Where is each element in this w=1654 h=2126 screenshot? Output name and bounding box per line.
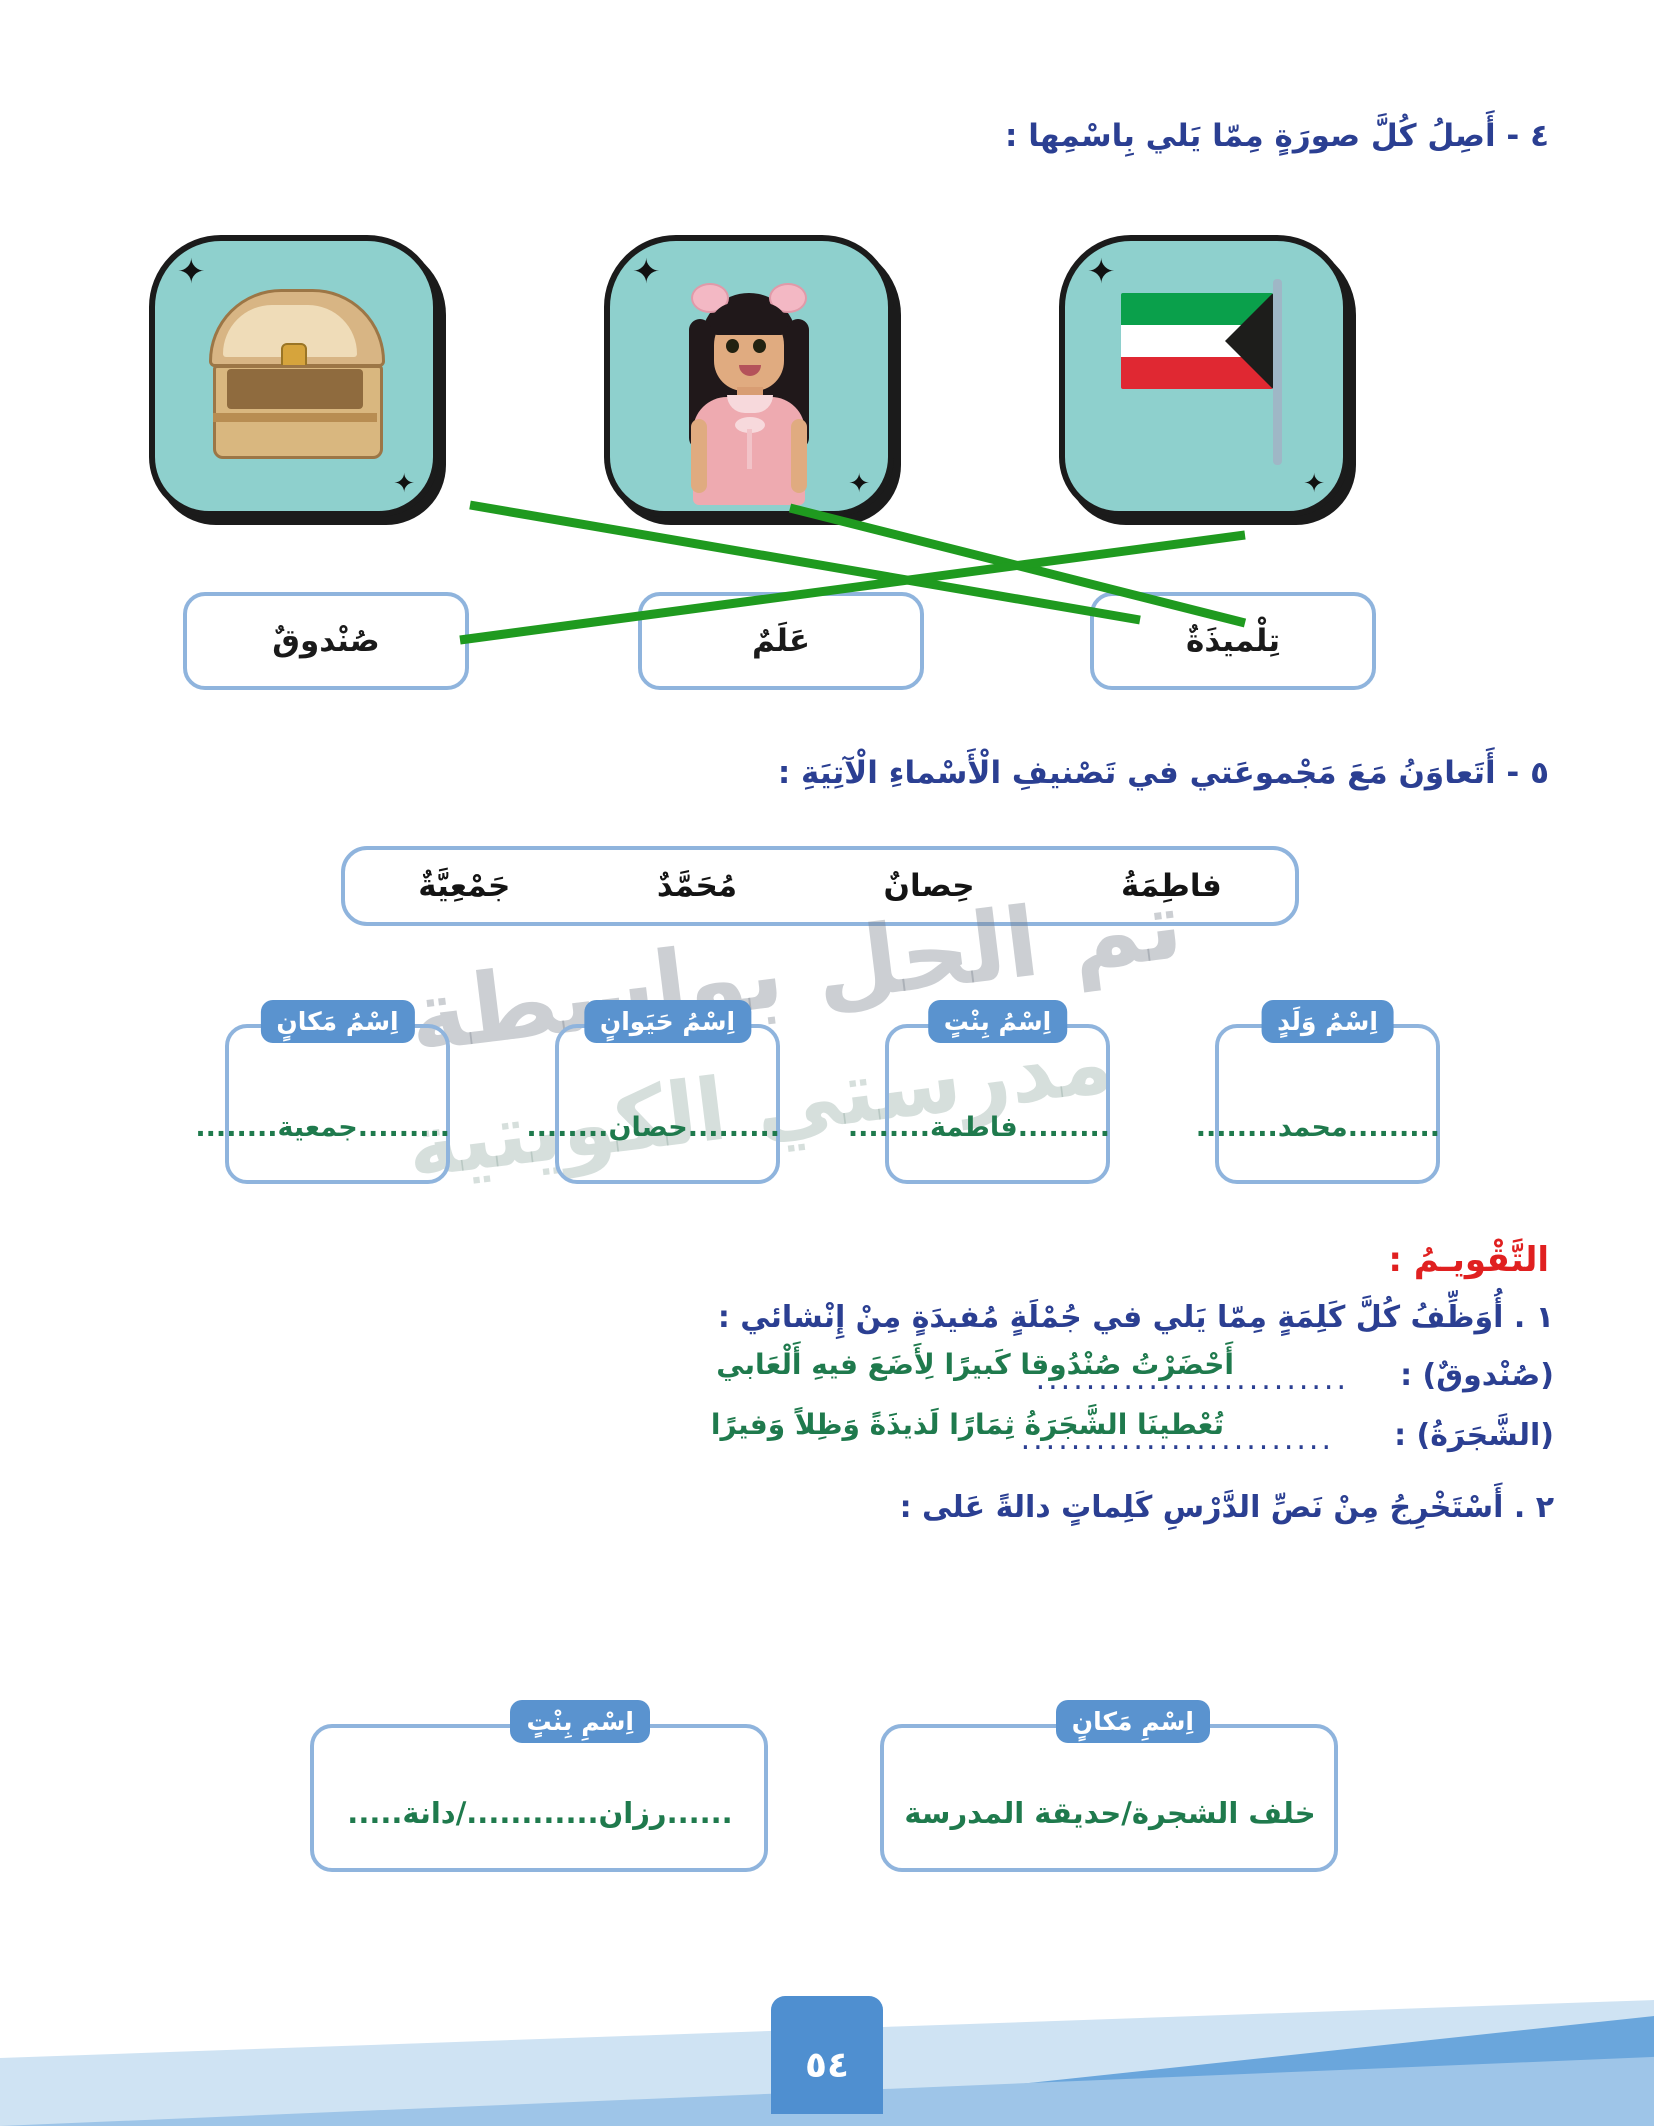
word-box-label: عَلَمٌ — [752, 623, 810, 659]
word-bank-item[interactable]: جَمْعِيَّةٌ — [418, 868, 510, 904]
sparkle-icon: ✦ — [177, 255, 206, 289]
evaluation-q1-prompt: ١ . أُوَظِّفُ كُلَّ كَلِمَةٍ مِمّا يَلي … — [718, 1300, 1554, 1335]
answer-dots: ............/ — [456, 1796, 599, 1830]
word-bank: فاطِمَةُ حِصانٌ مُحَمَّدٌ جَمْعِيَّةٌ — [341, 846, 1299, 926]
answer-dots: ......... — [1018, 1112, 1110, 1143]
answer-dots: ........ — [1196, 1112, 1278, 1143]
q2-answer-bint: ......رزان............/دانة..... — [310, 1796, 770, 1830]
category-makan: اِسْمُ مَكانٍ .........جمعية........ — [225, 1000, 450, 1200]
word-box-tilmitha[interactable]: تِلْميذَةٌ — [1090, 592, 1376, 690]
exercise5-number: ٥ - — [1506, 755, 1549, 791]
answer-text-left[interactable]: رزان — [599, 1796, 667, 1830]
word-box-label: تِلْميذَةٌ — [1186, 623, 1280, 659]
evaluation-title: التَّقْويـمُ : — [1388, 1240, 1549, 1280]
sparkle-icon: ✦ — [848, 471, 870, 497]
q1-prompt-text: أُوَظِّفُ كُلَّ كَلِمَةٍ مِمّا يَلي في ج… — [718, 1300, 1504, 1335]
category-answer: .........محمد........ — [1215, 1112, 1440, 1143]
evaluation-q2-prompt: ٢ . أَسْتَخْرِجُ مِنْ نَصِّ الدَّرْسِ كَ… — [900, 1490, 1554, 1525]
answer-text[interactable]: جمعية — [277, 1112, 357, 1143]
answer-text[interactable]: محمد — [1278, 1112, 1348, 1143]
answer-dots: / — [1121, 1796, 1132, 1830]
q2-box-makan: اِسْمِ مَكانٍ خلف الشجرة/حديقة المدرسة — [880, 1700, 1340, 1900]
category-answer: .........فاطمة........ — [885, 1112, 1110, 1143]
word-bank-item[interactable]: حِصانٌ — [884, 868, 975, 904]
category-tab-label: اِسْمُ حَيَوانٍ — [584, 1000, 751, 1043]
word-bank-item[interactable]: مُحَمَّدٌ — [657, 868, 737, 904]
q1-item1-answer[interactable]: أَحْضَرْتُ صُنْدُوقا كَبيرًا لِأَضَعَ في… — [716, 1348, 1234, 1381]
page-number: ٥٤ — [805, 2045, 849, 2114]
word-box-label: صُنْدوقٌ — [272, 623, 380, 659]
page-footer: ٥٤ — [0, 1926, 1654, 2126]
answer-dots: ........ — [526, 1112, 608, 1143]
answer-dots: ........ — [848, 1112, 930, 1143]
kuwait-flag-illustration — [1104, 279, 1304, 469]
card-chest[interactable]: ✦ ✦ — [149, 235, 439, 517]
q1-item2-answer[interactable]: تُعْطينَا الشَّجَرَةُ ثِمَارًا لَذيذَةً … — [711, 1408, 1224, 1441]
exercise5-prompt-text: أَتَعاوَنُ مَعَ مَجْموعَتي في تَصْنيفِ ا… — [778, 755, 1496, 791]
chest-illustration — [203, 289, 385, 459]
q2-answer-makan: خلف الشجرة/حديقة المدرسة — [880, 1796, 1340, 1830]
answer-dots: ......... — [1348, 1112, 1440, 1143]
q1-number: ١ . — [1514, 1300, 1554, 1335]
answer-text[interactable]: حصان — [608, 1112, 687, 1143]
category-walad: اِسْمُ وَلَدٍ .........محمد........ — [1215, 1000, 1440, 1200]
q2-tab-label: اِسْمِ بِنْتٍ — [510, 1700, 650, 1743]
sparkle-icon: ✦ — [393, 471, 415, 497]
exercise4-number: ٤ - — [1506, 118, 1549, 154]
q1-item1-cue: (صُنْدوقٌ) : — [1400, 1358, 1554, 1393]
answer-text[interactable]: فاطمة — [930, 1112, 1018, 1143]
answer-dots: ........ — [195, 1112, 277, 1143]
answer-dots: ...... — [667, 1796, 733, 1830]
category-answer: .........حصان........ — [555, 1112, 780, 1143]
category-tab-label: اِسْمُ بِنْتٍ — [928, 1000, 1068, 1043]
word-box-sunduq[interactable]: صُنْدوقٌ — [183, 592, 469, 690]
card-girl[interactable]: ✦ ✦ — [604, 235, 894, 517]
q2-number: ٢ . — [1514, 1490, 1554, 1525]
worksheet-page: ٤ - أَصِلُ كُلَّ صورَةٍ مِمّا يَلي بِاسْ… — [0, 0, 1654, 2126]
exercise4-prompt-text: أَصِلُ كُلَّ صورَةٍ مِمّا يَلي بِاسْمِها… — [1005, 118, 1496, 154]
sparkle-icon: ✦ — [632, 255, 661, 289]
answer-dots: ......... — [358, 1112, 450, 1143]
answer-text-left[interactable]: خلف الشجرة — [1132, 1796, 1316, 1830]
page-number-tab: ٥٤ — [771, 1996, 883, 2114]
q1-item2-cue: (الشَّجَرَةُ) : — [1394, 1418, 1554, 1453]
category-hayawan: اِسْمُ حَيَوانٍ .........حصان........ — [555, 1000, 780, 1200]
answer-text-right[interactable]: دانة — [402, 1796, 455, 1830]
q2-box-bint: اِسْمِ بِنْتٍ ......رزان............/دان… — [310, 1700, 770, 1900]
picture-card-row: ✦ ✦ ✦ — [0, 235, 1654, 515]
category-bint: اِسْمُ بِنْتٍ .........فاطمة........ — [885, 1000, 1110, 1200]
q2-prompt-text: أَسْتَخْرِجُ مِنْ نَصِّ الدَّرْسِ كَلِما… — [900, 1490, 1504, 1525]
category-tab-label: اِسْمُ وَلَدٍ — [1261, 1000, 1394, 1043]
answer-text-right[interactable]: حديقة المدرسة — [904, 1796, 1121, 1830]
girl-illustration — [683, 267, 815, 507]
card-flag[interactable]: ✦ ✦ — [1059, 235, 1349, 517]
category-answer: .........جمعية........ — [225, 1112, 450, 1143]
word-bank-item[interactable]: فاطِمَةُ — [1121, 868, 1222, 904]
category-tab-label: اِسْمُ مَكانٍ — [260, 1000, 414, 1043]
answer-dots: ..... — [347, 1796, 402, 1830]
q2-tab-label: اِسْمِ مَكانٍ — [1056, 1700, 1210, 1743]
answer-dots: ......... — [688, 1112, 780, 1143]
word-box-alam[interactable]: عَلَمٌ — [638, 592, 924, 690]
exercise5-prompt: ٥ - أَتَعاوَنُ مَعَ مَجْموعَتي في تَصْني… — [778, 755, 1549, 791]
sparkle-icon: ✦ — [1303, 471, 1325, 497]
exercise4-prompt: ٤ - أَصِلُ كُلَّ صورَةٍ مِمّا يَلي بِاسْ… — [1005, 118, 1549, 154]
